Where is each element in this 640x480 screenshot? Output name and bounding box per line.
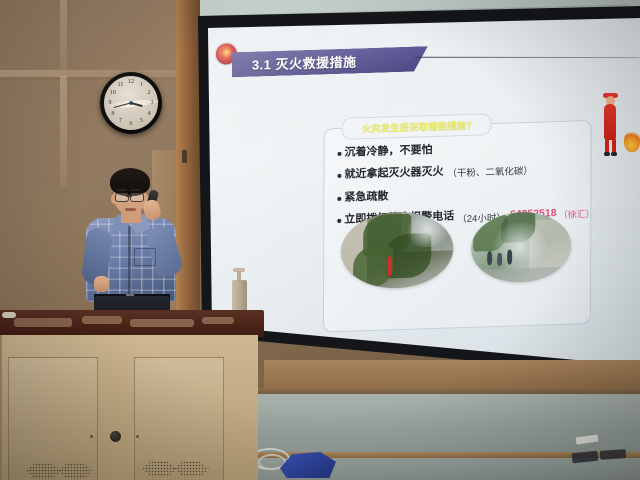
- clock-numeral: 6: [130, 121, 133, 127]
- eyeglasses-icon: [130, 193, 144, 202]
- lectern-door-left[interactable]: [8, 357, 98, 480]
- list-item: 紧急疏散: [337, 183, 587, 206]
- sanitizer-body: [232, 280, 247, 312]
- presenter-brow: [116, 189, 127, 191]
- lectern-lock[interactable]: [110, 431, 121, 442]
- eyeglasses-bridge: [126, 195, 132, 197]
- bullet-dot-icon: [338, 152, 342, 156]
- page-title: 3.1 灭火救援措施: [232, 51, 357, 74]
- presenter-left-hand: [94, 276, 109, 292]
- presenter-shirt-pocket: [134, 248, 156, 266]
- poster-body: [604, 104, 616, 140]
- clock-numeral: 10: [110, 90, 116, 96]
- door-screw: [136, 435, 139, 438]
- paint-chip: [130, 319, 194, 327]
- wall-panel: [0, 0, 190, 72]
- slide-title-bar: 3.1 灭火救援措施: [232, 46, 428, 77]
- list-item: 就近拿起灭火器灭火 （干粉、二氧化碳）: [337, 160, 587, 183]
- presenter-brow: [130, 189, 141, 191]
- floor-mat: [600, 449, 627, 460]
- paint-chip: [14, 318, 72, 327]
- clock-numeral: 5: [140, 118, 143, 124]
- bullet-text: 沉着冷静，不要怕: [345, 143, 433, 161]
- lectern-top: [0, 310, 264, 337]
- wall-seam: [0, 70, 200, 77]
- flame-icon: [624, 130, 640, 152]
- wall-clock: 121234567891011: [100, 72, 162, 134]
- photo-person: [507, 250, 512, 265]
- lectern-cabinet: [0, 310, 264, 480]
- poster-shoe: [611, 152, 617, 156]
- lectern-door-right[interactable]: [134, 357, 224, 480]
- wall-seam: [60, 76, 67, 186]
- wall-seam: [60, 0, 67, 76]
- lectern-body: [2, 335, 258, 480]
- question-text: 火灾发生后采取哪些措施?: [361, 118, 471, 135]
- paint-chip: [82, 316, 122, 324]
- bullet-text: 就近拿起灭火器灭火: [344, 165, 443, 183]
- clock-numeral: 3: [151, 100, 154, 106]
- clock-numeral: 9: [109, 100, 112, 106]
- presenter-hair: [110, 168, 150, 196]
- bullet-dot-icon: [337, 197, 341, 201]
- hand-sanitizer-bottle: [232, 268, 247, 312]
- title-underline: [415, 57, 640, 58]
- photo-people-evacuating-smoke: [471, 211, 571, 284]
- column-hinge: [182, 150, 187, 163]
- clock-numeral: 2: [148, 90, 151, 96]
- presenter-shirt-placket: [128, 226, 131, 300]
- question-badge: 火灾发生后采取哪些措施?: [342, 113, 492, 140]
- clock-numeral: 7: [119, 118, 122, 124]
- clock-numeral: 1: [140, 82, 143, 88]
- clock-numeral: 8: [111, 111, 114, 117]
- paint-chip: [202, 317, 234, 324]
- lectern-item: [2, 312, 16, 318]
- photo-person: [497, 253, 502, 266]
- slide-content: 3.1 灭火救援措施 火灾发生后采取哪些措施? 沉着冷静，不要怕 就近拿起灭火器…: [209, 9, 634, 352]
- presenter: [72, 168, 188, 320]
- red-firefighter-figure-poster: [598, 90, 624, 160]
- door-screw: [90, 435, 93, 438]
- clock-numeral: 4: [148, 111, 151, 117]
- clock-numeral: 12: [128, 79, 134, 85]
- poster-shoe: [604, 152, 610, 156]
- bullet-text: 紧急疏散: [344, 189, 388, 205]
- lecture-hall-scene: 121234567891011 3.1 灭火救援措施 火灾发生后采取哪些措施?: [0, 0, 640, 480]
- presenter-mouth: [125, 208, 136, 211]
- photo-red-accent: [387, 256, 392, 276]
- clock-numeral: 11: [118, 82, 124, 88]
- bullet-note: （干粉、二氧化碳）: [447, 163, 533, 180]
- bullet-dot-icon: [337, 174, 341, 178]
- photo-person: [487, 251, 492, 265]
